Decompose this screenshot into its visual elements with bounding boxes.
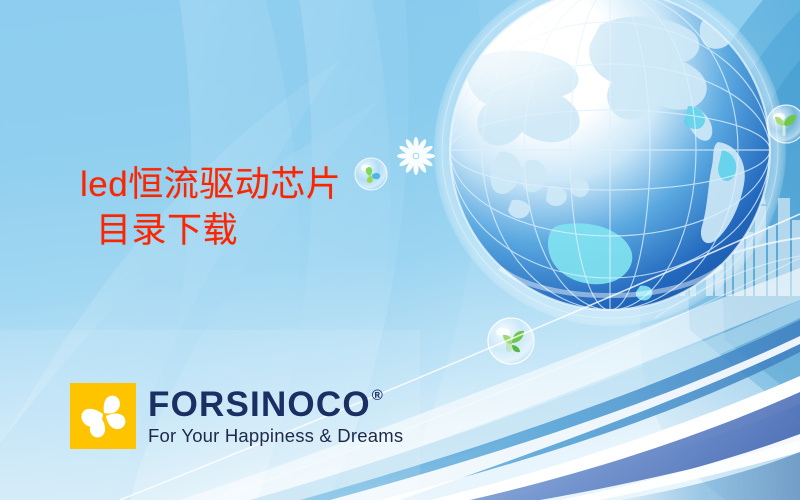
- marketing-banner: led恒流驱动芯片 目录下载 FORSINOCO ® For Your Happ…: [0, 0, 800, 500]
- company-logo[interactable]: FORSINOCO ® For Your Happiness & Dreams: [70, 383, 403, 449]
- headline-line-2: 目录下载: [80, 208, 341, 254]
- logo-tagline: For Your Happiness & Dreams: [148, 425, 403, 447]
- globe-illustration: [415, 0, 786, 326]
- bubble-sprout-icon: [488, 318, 534, 364]
- logo-wordmark: FORSINOCO ®: [148, 387, 403, 422]
- headline-line-1: led恒流驱动芯片: [80, 162, 341, 208]
- headline: led恒流驱动芯片 目录下载: [80, 162, 341, 253]
- daisy-flower-icon: [397, 137, 435, 175]
- registered-trademark-icon: ®: [372, 388, 384, 403]
- bottom-diagonal-bands: [120, 214, 800, 500]
- bubble-pinwheel-icon: [355, 158, 387, 190]
- city-skyline-silhouette: [680, 176, 800, 296]
- forsinoco-mark-icon: [70, 383, 136, 449]
- logo-text-block: FORSINOCO ® For Your Happiness & Dreams: [148, 383, 403, 447]
- logo-wordmark-text: FORSINOCO: [148, 387, 371, 422]
- bubble-leaf-icon: [767, 105, 800, 143]
